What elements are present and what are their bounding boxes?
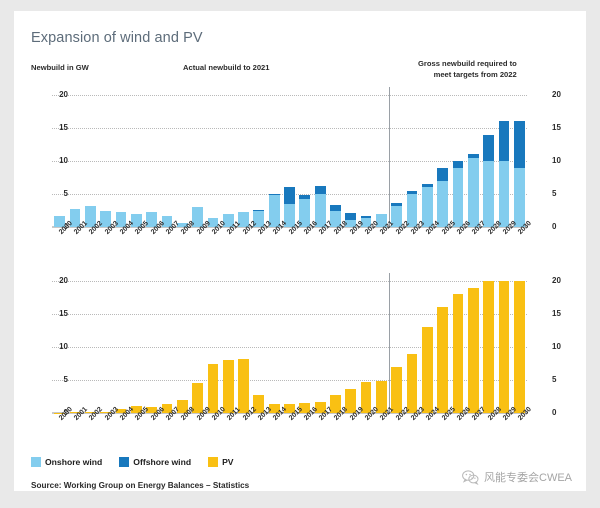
bar-segment-offshore-wind	[269, 194, 280, 195]
bar-2029[interactable]	[499, 121, 510, 227]
wind-plot-area: 0055101015152020	[52, 95, 527, 227]
bar-segment-offshore-wind	[345, 213, 356, 220]
y-axis-tick-right: 5	[552, 376, 568, 384]
target-period-label-line1: Gross newbuild required to	[418, 59, 517, 70]
bar-segment-pv	[238, 359, 249, 413]
bar-segment-pv	[499, 281, 510, 413]
y-axis-tick-right: 15	[552, 310, 568, 318]
wechat-icon	[462, 470, 479, 485]
bar-segment-offshore-wind	[468, 154, 479, 157]
legend-item-onshore-wind[interactable]: Onshore wind	[31, 457, 102, 467]
bar-2028[interactable]	[483, 135, 494, 227]
y-axis-tick-left: 5	[52, 190, 68, 198]
legend-swatch	[208, 457, 218, 467]
target-period-label: Gross newbuild required to meet targets …	[418, 59, 517, 80]
bar-segment-onshore-wind	[468, 158, 479, 227]
page-title: Expansion of wind and PV	[31, 30, 203, 46]
target-period-label-line2: meet targets from 2022	[418, 70, 517, 81]
bar-segment-pv	[468, 288, 479, 413]
y-axis-tick-left: 15	[52, 310, 68, 318]
bar-segment-offshore-wind	[315, 186, 326, 194]
bar-segment-offshore-wind	[253, 210, 264, 211]
legend-label: Onshore wind	[45, 457, 102, 467]
bar-2026[interactable]	[453, 294, 464, 413]
y-axis-tick-left: 20	[52, 91, 68, 99]
bar-segment-offshore-wind	[407, 191, 418, 194]
bar-segment-offshore-wind	[330, 205, 341, 211]
bar-2010[interactable]	[208, 364, 219, 414]
y-axis-tick-left: 10	[52, 157, 68, 165]
bar-2011[interactable]	[223, 360, 234, 413]
actual-target-divider	[389, 87, 390, 228]
y-axis-tick-left: 5	[52, 376, 68, 384]
legend-item-offshore-wind[interactable]: Offshore wind	[119, 457, 191, 467]
bar-2024[interactable]	[422, 184, 433, 227]
bar-segment-offshore-wind	[499, 121, 510, 161]
wind-chart: 0055101015152020 20002001200220032004200…	[31, 87, 569, 255]
bar-2024[interactable]	[422, 327, 433, 413]
y-axis-tick-left: 10	[52, 343, 68, 351]
y-axis-tick-right: 10	[552, 343, 568, 351]
bar-2012[interactable]	[238, 359, 249, 413]
legend-label: PV	[222, 457, 233, 467]
bar-2027[interactable]	[468, 288, 479, 413]
y-axis-tick-right: 10	[552, 157, 568, 165]
legend-swatch	[31, 457, 41, 467]
bar-2029[interactable]	[499, 281, 510, 413]
bar-segment-onshore-wind	[437, 181, 448, 227]
y-axis-tick-right: 5	[552, 190, 568, 198]
bar-segment-offshore-wind	[483, 135, 494, 161]
chart-card: Expansion of wind and PV Newbuild in GW …	[14, 11, 586, 491]
bar-2026[interactable]	[453, 161, 464, 227]
bar-2028[interactable]	[483, 281, 494, 413]
bar-2022[interactable]	[391, 367, 402, 413]
axis-unit-label: Newbuild in GW	[31, 63, 89, 72]
bar-segment-offshore-wind	[391, 203, 402, 206]
bar-segment-onshore-wind	[453, 168, 464, 227]
bar-segment-onshore-wind	[483, 161, 494, 227]
gridline	[52, 281, 527, 282]
bar-segment-offshore-wind	[437, 168, 448, 181]
bar-segment-offshore-wind	[453, 161, 464, 168]
bar-segment-pv	[422, 327, 433, 413]
bar-2030[interactable]	[514, 121, 525, 227]
watermark: 风能专委会CWEA	[462, 469, 572, 485]
bar-segment-offshore-wind	[422, 184, 433, 187]
y-axis-tick-right: 0	[552, 223, 568, 231]
y-axis-tick-right: 20	[552, 91, 568, 99]
bar-2015[interactable]	[284, 187, 295, 227]
bar-segment-pv	[483, 281, 494, 413]
bar-segment-pv	[208, 364, 219, 414]
bar-segment-pv	[514, 281, 525, 413]
pv-plot-area: 0055101015152020	[52, 281, 527, 413]
y-axis-tick-left: 20	[52, 277, 68, 285]
legend-item-pv[interactable]: PV	[208, 457, 233, 467]
bar-2023[interactable]	[407, 354, 418, 413]
y-axis-tick-left: 15	[52, 124, 68, 132]
watermark-text: 风能专委会CWEA	[484, 469, 572, 485]
actual-target-divider	[389, 273, 390, 414]
y-axis-tick-right: 0	[552, 409, 568, 417]
legend: Onshore windOffshore windPV	[31, 457, 242, 467]
bar-2027[interactable]	[468, 154, 479, 227]
bar-segment-offshore-wind	[361, 216, 372, 217]
bar-segment-offshore-wind	[299, 195, 310, 198]
gridline	[52, 128, 527, 129]
legend-swatch	[119, 457, 129, 467]
bar-segment-pv	[437, 307, 448, 413]
gridline	[52, 95, 527, 96]
bar-segment-onshore-wind	[499, 161, 510, 227]
bar-segment-pv	[453, 294, 464, 413]
bar-segment-pv	[223, 360, 234, 413]
bar-segment-offshore-wind	[514, 121, 525, 167]
y-axis-tick-right: 15	[552, 124, 568, 132]
bar-segment-pv	[391, 367, 402, 413]
bar-segment-offshore-wind	[284, 187, 295, 204]
bar-2025[interactable]	[437, 307, 448, 413]
bar-segment-onshore-wind	[514, 168, 525, 227]
actual-period-label: Actual newbuild to 2021	[183, 63, 270, 72]
pv-chart: 0055101015152020 20002001200220032004200…	[31, 273, 569, 441]
bar-2025[interactable]	[437, 168, 448, 227]
bar-segment-pv	[407, 354, 418, 413]
bar-2030[interactable]	[514, 281, 525, 413]
y-axis-tick-right: 20	[552, 277, 568, 285]
source-note: Source: Working Group on Energy Balances…	[31, 481, 249, 490]
screenshot-root: Expansion of wind and PV Newbuild in GW …	[0, 0, 600, 508]
legend-label: Offshore wind	[133, 457, 191, 467]
